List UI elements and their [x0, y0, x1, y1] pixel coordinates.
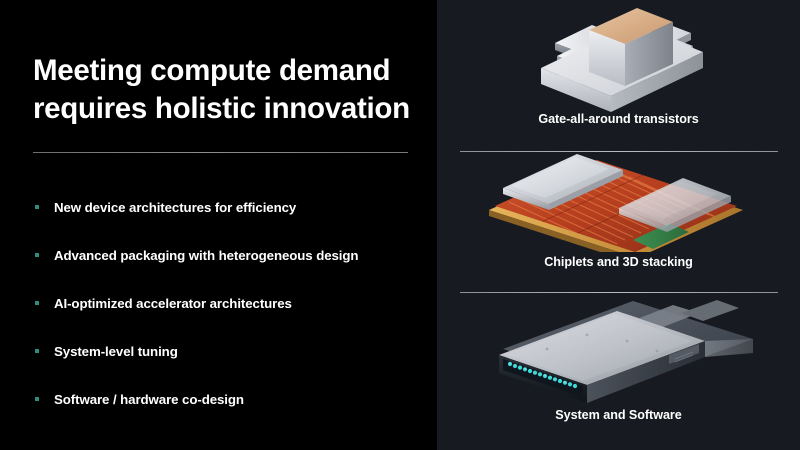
- panel-chiplets: Chiplets and 3D stacking: [437, 152, 800, 293]
- list-item: AI-optimized accelerator architectures: [33, 279, 433, 327]
- bullet-marker-icon: [35, 397, 39, 401]
- rack-server-icon: [437, 293, 800, 408]
- bullet-marker-icon: [35, 349, 39, 353]
- bullet-label: New device architectures for efficiency: [54, 200, 296, 215]
- presentation-slide: Meeting compute demand requires holistic…: [0, 0, 800, 450]
- bullet-label: Software / hardware co-design: [54, 392, 244, 407]
- right-illustration-panel: Gate-all-around transistors: [437, 0, 800, 450]
- page-title: Meeting compute demand requires holistic…: [33, 52, 423, 128]
- panel-caption: System and Software: [437, 408, 800, 422]
- left-content-panel: Meeting compute demand requires holistic…: [0, 0, 437, 450]
- panel-caption: Gate-all-around transistors: [437, 112, 800, 126]
- title-block: Meeting compute demand requires holistic…: [33, 52, 423, 128]
- list-item: System-level tuning: [33, 327, 433, 375]
- list-item: Software / hardware co-design: [33, 375, 433, 423]
- panel-gate-all-around: Gate-all-around transistors: [437, 0, 800, 152]
- bullet-marker-icon: [35, 253, 39, 257]
- chiplet-3d-stacking-icon: [437, 152, 800, 255]
- bullet-list: New device architectures for efficiency …: [33, 183, 433, 423]
- title-divider: [33, 152, 408, 153]
- panel-system-software: System and Software: [437, 293, 800, 450]
- bullet-label: Advanced packaging with heterogeneous de…: [54, 248, 358, 263]
- panel-caption: Chiplets and 3D stacking: [437, 255, 800, 269]
- bullet-marker-icon: [35, 301, 39, 305]
- bullet-label: AI-optimized accelerator architectures: [54, 296, 292, 311]
- list-item: Advanced packaging with heterogeneous de…: [33, 231, 433, 279]
- bullet-label: System-level tuning: [54, 344, 178, 359]
- bullet-marker-icon: [35, 205, 39, 209]
- gate-all-around-transistor-icon: [437, 0, 800, 112]
- list-item: New device architectures for efficiency: [33, 183, 433, 231]
